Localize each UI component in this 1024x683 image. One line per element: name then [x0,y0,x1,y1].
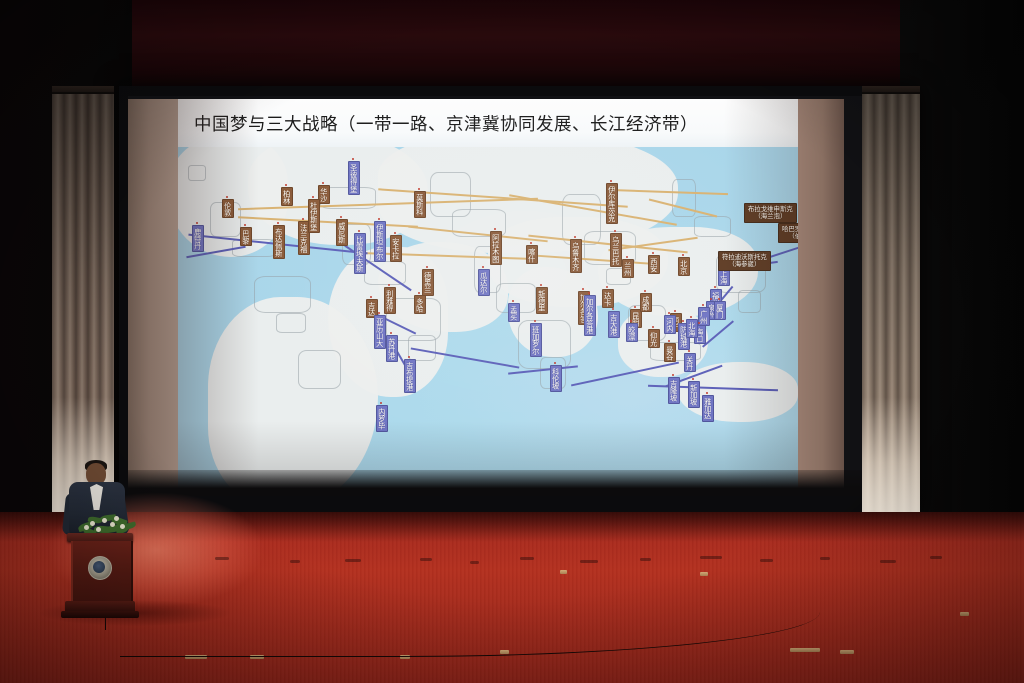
map-port-label: 班加罗尔 [530,323,542,357]
floor-marker [250,655,264,659]
floor-scuff [640,558,651,561]
floor-scuff [520,557,534,560]
map-port-label: 伊斯坦布尔 [374,221,386,262]
floor-scuff [420,558,432,561]
country-border [254,276,311,313]
floor-scuff [700,556,722,559]
city-marker-dot [718,298,720,300]
flower-bloom [120,524,125,529]
city-marker-dot [358,230,360,232]
floor-scuff [880,560,896,563]
city-marker-dot [408,356,410,358]
flower-bloom [110,522,115,527]
map-port-label: 瓜达尔 [478,269,490,296]
map-city-label: 阿拉木图 [490,231,502,265]
floor-scuff [760,559,773,562]
map-port-label: 吉隆坡 [668,377,680,404]
podium-and-speaker [55,455,165,627]
city-marker-dot [688,350,690,352]
map-city-label: 乌兰巴托 [610,233,622,267]
map-city-label: 西安 [648,255,660,274]
map-port-label: 孟买 [508,303,520,322]
map-russia-city-label: 布拉戈维申斯克（海兰泡） [744,203,797,223]
slide-title-bar: 中国梦与三大战略（一带一路、京津冀协同发展、长江经济带） [178,99,798,147]
flower-bloom [114,516,119,521]
city-marker-dot [370,296,372,298]
city-marker-dot [614,230,616,232]
belt-and-road-map: 伦敦柏林华沙巴黎布达佩斯法兰克福威尼斯杜伊斯堡莫斯科安卡拉德黑兰喀什阿拉木图乌鲁… [178,147,798,492]
map-city-label: 兰州 [622,259,634,278]
map-port-label: 内罗毕 [376,405,388,432]
city-marker-dot [668,340,670,342]
map-russia-city-label: 哈巴罗夫斯克（伯力） [778,223,798,243]
floor-scuff [580,560,598,563]
map-port-label: 科伦坡 [550,365,562,392]
city-marker-dot [610,180,612,182]
podium-foot [61,611,139,618]
map-city-label: 伊尔库茨克 [606,183,618,224]
map-city-label: 喀什 [526,245,538,264]
map-city-label: 仰光 [648,329,660,348]
floor-scuff [930,556,942,559]
city-marker-dot [630,320,632,322]
city-marker-dot [302,218,304,220]
presentation-slide: 中国梦与三大战略（一带一路、京津冀协同发展、长江经济带） 伦敦柏林华沙巴黎布达佩… [178,99,798,492]
city-marker-dot [682,320,684,322]
city-marker-dot [534,320,536,322]
map-city-label: 巴黎 [240,227,252,246]
map-city-label: 莫斯科 [414,191,426,218]
left-curtain-rail [52,86,114,94]
floor-marker [790,648,820,652]
city-marker-dot [285,184,287,186]
floor-marker [840,650,854,654]
map-city-label: 杜伊斯堡 [308,199,320,233]
flower-bloom [90,521,95,526]
city-marker-dot [418,188,420,190]
country-border [188,165,206,181]
floor-marker [960,612,969,616]
map-city-label: 伦敦 [222,199,234,218]
left-curtain-shade [52,92,114,422]
stage-scene: 中国梦与三大战略（一带一路、京津冀协同发展、长江经济带） 伦敦柏林华沙巴黎布达佩… [0,0,1024,683]
map-port-label: 河内 [664,315,676,334]
city-marker-dot [574,236,576,238]
map-port-label: 比雷埃夫斯 [354,233,366,274]
flower-bloom [96,527,101,532]
city-marker-dot [606,286,608,288]
map-port-label: 皎漂 [626,323,638,342]
map-port-label: 关丹 [684,353,696,372]
map-port-label: 苏丹港 [386,335,398,362]
city-marker-dot [426,266,428,268]
country-border [738,290,761,313]
flower-bloom [84,525,89,530]
map-city-label: 曼谷 [664,343,676,362]
country-border [694,216,731,237]
city-marker-dot [692,378,694,380]
slide-title: 中国梦与三大战略（一带一路、京津冀协同发展、长江经济带） [178,111,698,136]
city-marker-dot [652,252,654,254]
city-marker-dot [690,316,692,318]
map-port-label: 加尔各答港 [584,295,596,336]
city-marker-dot [672,374,674,376]
right-curtain-highlight [862,397,920,517]
map-port-label: 亚历山大 [374,315,386,349]
map-port-label: 厦门 [714,301,726,320]
city-marker-dot [244,224,246,226]
city-marker-dot [530,242,532,244]
floor-scuff [470,561,479,564]
map-port-label: 北海 [686,319,698,338]
city-marker-dot [702,304,704,306]
map-russia-city-label: 符拉迪沃斯托克（海参崴） [718,251,771,271]
city-marker-dot [390,332,392,334]
city-marker-dot [634,306,636,308]
floor-marker [185,655,207,659]
city-marker-dot [378,312,380,314]
city-marker-dot [540,284,542,286]
city-marker-dot [352,158,354,160]
city-marker-dot [322,182,324,184]
city-marker-dot [394,232,396,234]
city-marker-dot [512,300,514,302]
country-border [298,350,341,389]
city-marker-dot [612,308,614,310]
map-city-label: 柏林 [281,187,293,206]
map-port-label: 新加坡 [688,381,700,408]
left-curtain [52,92,114,517]
map-city-label: 成都 [640,293,652,312]
floor-scuff [215,557,229,560]
city-marker-dot [714,286,716,288]
flower-bloom [102,518,107,523]
map-port-label: 吉布提港 [404,359,416,393]
map-city-label: 乌鲁木齐 [570,239,582,273]
floor-scuff [290,560,300,563]
map-port-label: 圣彼得堡 [348,161,360,195]
city-marker-dot [380,402,382,404]
city-marker-dot [706,392,708,394]
city-marker-dot [652,326,654,328]
floor-scuff [820,557,830,560]
city-marker-dot [674,310,676,312]
screen-right-dim-band [796,99,844,493]
screen-left-dim-band [128,99,178,493]
floor-scuff [345,559,361,562]
city-marker-dot [582,288,584,290]
floor-marker [400,655,410,659]
city-marker-dot [418,292,420,294]
podium-emblem-center-icon [93,561,105,573]
map-city-label: 达卡 [602,289,614,308]
map-city-label: 北京 [678,257,690,276]
city-marker-dot [196,222,198,224]
right-curtain-shade [862,92,920,422]
city-marker-dot [482,266,484,268]
map-city-label: 新德里 [536,287,548,314]
city-marker-dot [644,290,646,292]
floor-marker [500,650,509,654]
map-port-label: 雅加达 [702,395,714,422]
right-curtain-rail [862,86,920,94]
city-marker-dot [494,228,496,230]
map-city-label: 利雅得 [384,287,396,314]
city-marker-dot [626,256,628,258]
map-port-label: 吉大港 [608,311,620,338]
city-marker-dot [554,362,556,364]
city-marker-dot [226,196,228,198]
country-border [276,313,306,333]
floor-marker [700,572,708,576]
city-marker-dot [312,196,314,198]
map-city-label: 威尼斯 [336,219,348,246]
map-city-label: 多哈 [414,295,426,314]
city-marker-dot [668,312,670,314]
map-city-label: 德黑兰 [422,269,434,296]
city-marker-dot [710,298,712,300]
right-curtain [862,92,920,517]
city-marker-dot [682,254,684,256]
floor-marker [560,570,567,574]
city-marker-dot [588,292,590,294]
city-marker-dot [698,322,700,324]
city-marker-dot [378,218,380,220]
city-marker-dot [340,216,342,218]
city-marker-dot [388,284,390,286]
map-port-label: 鹿特丹 [192,225,204,252]
city-marker-dot [277,222,279,224]
map-city-label: 布达佩斯 [273,225,285,259]
map-city-label: 安卡拉 [390,235,402,262]
